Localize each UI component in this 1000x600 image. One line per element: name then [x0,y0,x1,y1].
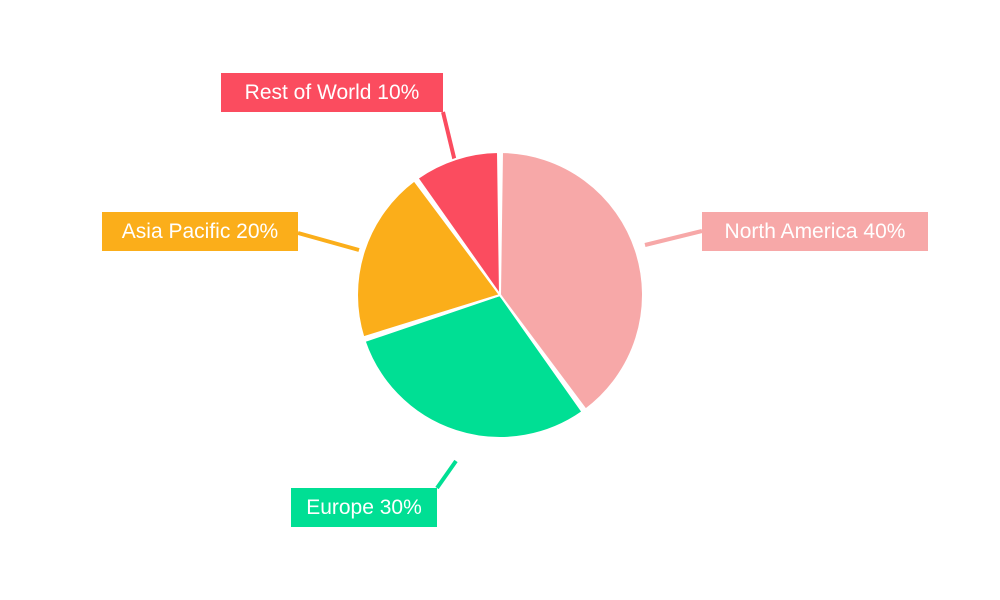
leader-line [298,233,359,250]
pie-chart-figure: North America 40%Europe 30%Asia Pacific … [0,0,1000,600]
pie-label-rest-of-world: Rest of World 10% [221,73,443,112]
pie-label-europe: Europe 30% [291,488,437,527]
leader-line [437,461,456,488]
pie-label-north-america: North America 40% [702,212,928,251]
pie-label-asia-pacific: Asia Pacific 20% [102,212,298,251]
pie-chart-canvas [0,0,1000,600]
leader-line [645,231,702,245]
pie-wedge-group [357,152,643,438]
